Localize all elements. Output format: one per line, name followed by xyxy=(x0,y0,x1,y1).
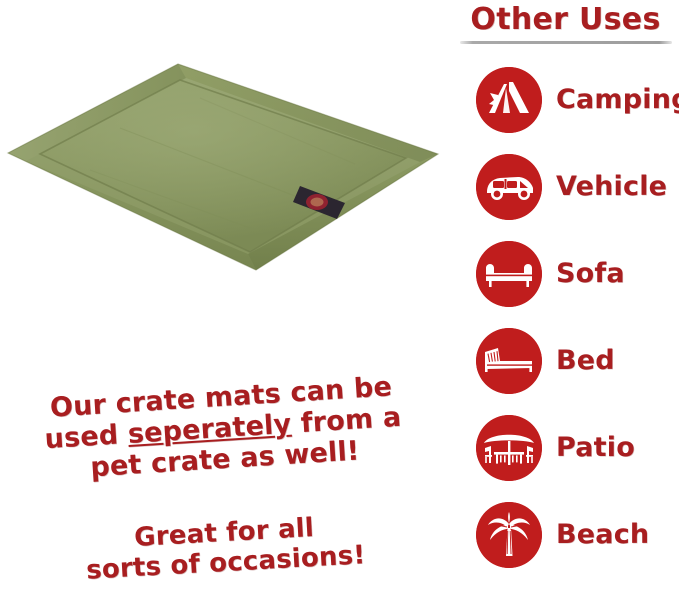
palm-tree-icon xyxy=(476,502,542,568)
use-label-camping: Camping xyxy=(556,84,679,115)
other-uses-title: Other Uses xyxy=(452,2,679,37)
copy-line-2-pre: used xyxy=(44,419,129,455)
other-uses-panel: Other Uses Camping xyxy=(452,0,679,593)
use-row-camping: Camping xyxy=(452,56,679,143)
other-uses-list: Camping xyxy=(452,56,679,578)
bed-icon xyxy=(476,328,542,394)
use-row-beach: Beach xyxy=(452,491,679,578)
use-row-vehicle: Vehicle xyxy=(452,143,679,230)
use-label-beach: Beach xyxy=(556,519,649,550)
tent-icon xyxy=(476,67,542,133)
use-label-patio: Patio xyxy=(556,432,635,463)
use-row-patio: Patio xyxy=(452,404,679,491)
marketing-copy-primary: Our crate mats can be used seperately fr… xyxy=(16,370,431,488)
use-row-sofa: Sofa xyxy=(452,230,679,317)
marketing-copy-secondary: Great for all sorts of occasions! xyxy=(54,510,397,588)
use-row-bed: Bed xyxy=(452,317,679,404)
use-label-sofa: Sofa xyxy=(556,258,625,289)
sofa-icon xyxy=(476,241,542,307)
use-label-bed: Bed xyxy=(556,345,615,376)
copy-line-2-post: from a xyxy=(290,402,402,440)
use-label-vehicle: Vehicle xyxy=(556,171,667,202)
car-icon xyxy=(476,154,542,220)
patio-umbrella-icon xyxy=(476,415,542,481)
crate-mat-illustration xyxy=(0,58,445,288)
product-photo xyxy=(0,0,445,380)
title-divider xyxy=(460,41,672,44)
product-marketing-image: Our crate mats can be used seperately fr… xyxy=(0,0,679,593)
mat-sheen xyxy=(40,80,406,252)
